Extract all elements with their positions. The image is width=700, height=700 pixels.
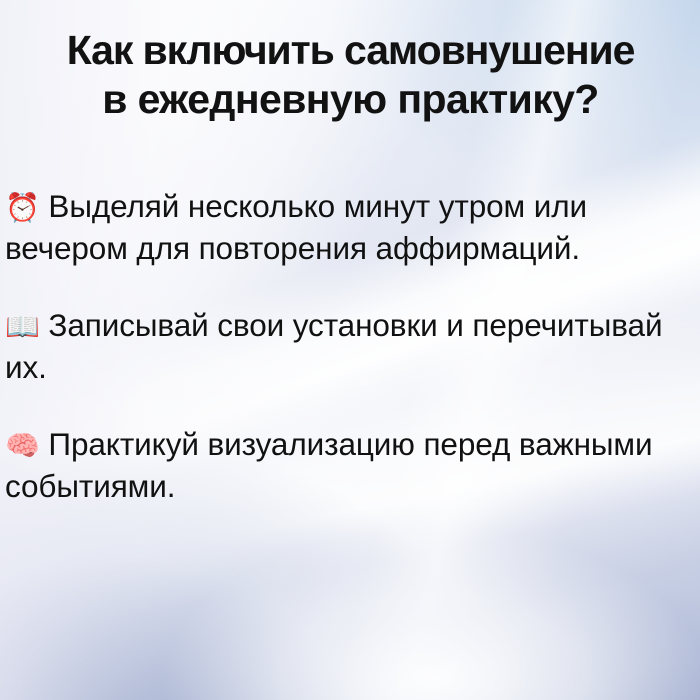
page-title-line-2: в ежедневную практику? bbox=[5, 75, 696, 124]
infographic-card: Как включить самовнушение в ежедневную п… bbox=[0, 0, 700, 700]
list-item: ⏰ Выделяй несколько минут утром или вече… bbox=[5, 186, 665, 270]
page-title: Как включить самовнушение в ежедневную п… bbox=[5, 26, 696, 124]
list-item-text: Выделяй несколько минут утром или вечеро… bbox=[5, 188, 587, 266]
card-content: Как включить самовнушение в ежедневную п… bbox=[0, 0, 700, 700]
list-item: 🧠 Практикуй визуализацию перед важными с… bbox=[5, 424, 665, 508]
open-book-icon: 📖 bbox=[5, 310, 40, 343]
list-item: 📖 Записывай свои установки и перечитывай… bbox=[5, 305, 665, 389]
tips-list: ⏰ Выделяй несколько минут утром или вече… bbox=[5, 186, 696, 507]
thinking-head-icon: 🧠 bbox=[5, 429, 40, 462]
list-item-text: Записывай свои установки и перечитывай и… bbox=[5, 307, 662, 385]
page-title-line-1: Как включить самовнушение bbox=[5, 26, 696, 75]
list-item-text: Практикуй визуализацию перед важными соб… bbox=[5, 426, 653, 504]
alarm-clock-icon: ⏰ bbox=[5, 191, 40, 224]
